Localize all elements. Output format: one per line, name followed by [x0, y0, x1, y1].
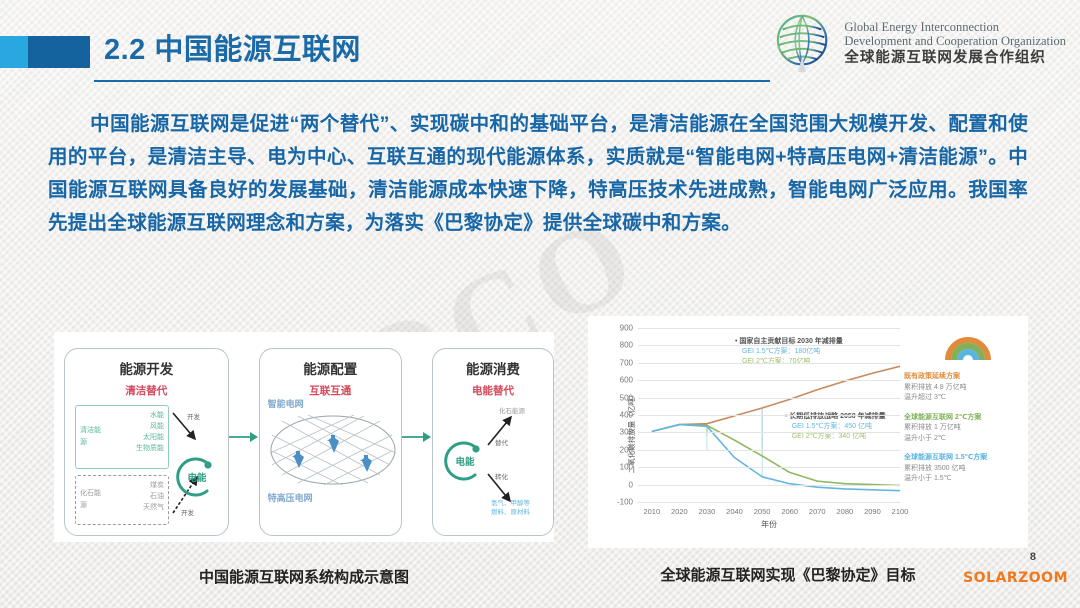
panel-energy-consumption: 能源消费 电能替代 电能 替代 化石能源 — [432, 348, 554, 536]
clean-energy-box: 清洁能源 水能 风能 太阳能 生物质能 — [75, 405, 169, 469]
replace-label: 替代 — [495, 437, 508, 447]
scenario1-title: 既有政策延续方案 — [904, 372, 1020, 383]
convert-label: 转化 — [495, 471, 508, 481]
chart-gridline — [638, 485, 900, 486]
electricity-label-2: 电能 — [441, 437, 489, 485]
hydrogen-target-label: 氢气、甲醇等 燃料、原材料 — [491, 499, 530, 517]
scenario2-line1: 累积排放 1 万亿吨 — [904, 423, 1020, 434]
chart-x-axis-label: 年份 — [761, 519, 777, 530]
chart-y-tick: 0 — [629, 480, 633, 489]
annotation1-line-green: GEI 2℃方案：70亿吨 — [742, 357, 843, 367]
scenario-donut-icon — [942, 320, 994, 364]
globe-icon — [773, 12, 835, 74]
organization-logo: Global Energy Interconnection Developmen… — [773, 12, 1066, 74]
flow-arrow-2 — [402, 431, 432, 443]
chart-x-tick: 2050 — [754, 507, 771, 516]
electricity-ring-1: 电能 — [173, 453, 221, 501]
annotation1-line-blue: GEI 1.5℃方案：180亿吨 — [742, 347, 843, 357]
scenario3-title: 全球能源互联网 1.5℃方案 — [904, 453, 1020, 464]
chart-x-tick: 2060 — [781, 507, 798, 516]
chart-y-tick: 300 — [620, 428, 633, 437]
grid-network-icon — [268, 413, 398, 487]
scenario-block-existing: 既有政策延续方案 累积排放 4.8 万亿吨 温升超过 3℃ — [904, 372, 1020, 404]
chart-y-tick: 700 — [620, 358, 633, 367]
panel3-title: 能源消费 — [433, 358, 553, 378]
logo-chinese: 全球能源互联网发展合作组织 — [844, 50, 1066, 66]
diagram-panels: 能源开发 清洁替代 清洁能源 水能 风能 太阳能 生物质能 化石能源 煤炭 石油… — [54, 332, 554, 542]
chart-gridline — [638, 328, 900, 329]
scenario2-line2: 温升小于 2℃ — [904, 434, 1020, 445]
flow-arrow-1 — [229, 431, 259, 443]
scenario-block-15c: 全球能源互联网 1.5℃方案 累积排放 3500 亿吨 温升小于 1.5℃ — [904, 453, 1020, 485]
right-chart: 二氧化碳排放量（亿吨） • 国家自主贡献目标 2030 年减排量 GEI 1.5… — [588, 316, 1028, 548]
clean-energy-label: 清洁能源 — [80, 425, 102, 449]
chart-gridline — [638, 502, 900, 503]
annotation1-title: 国家自主贡献目标 2030 年减排量 — [739, 338, 842, 345]
chart-gridline — [638, 363, 900, 364]
header-accent-blocks — [0, 36, 90, 68]
clean-energy-items: 水能 风能 太阳能 生物质能 — [136, 410, 164, 454]
develop-label-bottom: 开发 — [181, 507, 194, 517]
logo-english-line1: Global Energy Interconnection — [844, 20, 1066, 34]
arrow-right-icon — [229, 431, 259, 443]
panel-energy-allocation: 能源配置 互联互通 智能电网 特高压电网 — [259, 348, 402, 536]
page-title: 2.2 中国能源互联网 — [104, 26, 361, 68]
chart-y-tick: 600 — [620, 376, 633, 385]
chart-plot-area: • 国家自主贡献目标 2030 年减排量 GEI 1.5℃方案：180亿吨 GE… — [638, 328, 900, 502]
left-diagram: 能源开发 清洁替代 清洁能源 水能 风能 太阳能 生物质能 化石能源 煤炭 石油… — [54, 332, 554, 542]
panel2-subtitle: 互联互通 — [260, 383, 401, 398]
body-paragraph: 中国能源互联网是促进“两个替代”、实现碳中和的基础平台，是清洁能源在全国范围大规… — [48, 108, 1028, 240]
chart-y-tick: 100 — [620, 463, 633, 472]
chart-x-tick: 2070 — [809, 507, 826, 516]
scenario-block-2c: 全球能源互联网 2℃方案 累积排放 1 万亿吨 温升小于 2℃ — [904, 413, 1020, 445]
chart-x-tick: 2100 — [892, 507, 909, 516]
header-divider — [94, 80, 770, 82]
fossil-energy-items: 煤炭 石油 天然气 — [143, 480, 164, 513]
chart-x-tick: 2080 — [836, 507, 853, 516]
chart-gridline — [638, 432, 900, 433]
panel1-title: 能源开发 — [65, 358, 228, 378]
accent-block-dark — [28, 36, 90, 68]
chart-gridline — [638, 380, 900, 381]
accent-block-light — [0, 36, 28, 68]
scenario-legend: 既有政策延续方案 累积排放 4.8 万亿吨 温升超过 3℃ 全球能源互联网 2℃… — [904, 372, 1020, 494]
chart-annotation-2050: • 长期低排放战略 2050 年减排量 GEI 1.5℃方案：450 亿吨 GE… — [785, 412, 886, 442]
chart-x-tick: 2030 — [699, 507, 716, 516]
chart-y-tick: 900 — [620, 324, 633, 333]
chart-y-tick: 800 — [620, 341, 633, 350]
chart-y-tick: 400 — [620, 411, 633, 420]
annotation2-line-blue: GEI 1.5℃方案：450 亿吨 — [792, 422, 886, 432]
scenario2-title: 全球能源互联网 2℃方案 — [904, 413, 1020, 424]
chart-x-tick: 2090 — [864, 507, 881, 516]
arrow-right-icon — [402, 431, 432, 443]
paragraph-text: 中国能源互联网是促进“两个替代”、实现碳中和的基础平台，是清洁能源在全国范围大规… — [48, 113, 1028, 234]
annotation2-title: 长期低排放战略 2050 年减排量 — [789, 413, 885, 420]
fossil-energy-label: 化石能源 — [80, 488, 102, 512]
scenario1-line2: 温升超过 3℃ — [904, 393, 1020, 404]
chart-gridline — [638, 467, 900, 468]
panel3-subtitle: 电能替代 — [433, 383, 553, 398]
scenario3-line1: 累积排放 3500 亿吨 — [904, 464, 1020, 475]
page-number: 8 — [1030, 551, 1036, 563]
panel-energy-development: 能源开发 清洁替代 清洁能源 水能 风能 太阳能 生物质能 化石能源 煤炭 石油… — [64, 348, 229, 536]
chart-x-tick: 2020 — [671, 507, 688, 516]
electricity-ring-2: 电能 — [441, 437, 489, 485]
scenario3-line2: 温升小于 1.5℃ — [904, 474, 1020, 485]
fossil-energy-box: 化石能源 煤炭 石油 天然气 — [75, 475, 169, 525]
develop-label-top: 开发 — [187, 411, 200, 421]
chart-x-tick: 2010 — [643, 507, 660, 516]
chart-y-tick: 500 — [620, 393, 633, 402]
panel2-title: 能源配置 — [260, 358, 401, 378]
electricity-label-1: 电能 — [173, 453, 221, 501]
solarzoom-watermark: SOLARZOOM — [963, 570, 1068, 586]
logo-english-line2: Development and Cooperation Organization — [844, 34, 1066, 48]
chart-gridline — [638, 415, 900, 416]
right-figure-caption: 全球能源互联网实现《巴黎协定》目标 — [588, 564, 988, 585]
chart-y-tick: 200 — [620, 445, 633, 454]
left-figure-caption: 中国能源互联网系统构成示意图 — [54, 566, 554, 587]
annotation2-marker-row: • 长期低排放战略 2050 年减排量 — [785, 412, 886, 422]
chart-x-tick: 2040 — [726, 507, 743, 516]
fossil-target-label: 化石能源 — [499, 405, 525, 415]
smart-grid-label: 智能电网 — [268, 397, 304, 410]
panel1-subtitle: 清洁替代 — [65, 383, 228, 398]
chart-gridline — [638, 398, 900, 399]
chart-gridline — [638, 345, 900, 346]
uhv-grid-label: 特高压电网 — [268, 491, 313, 504]
scenario1-line1: 累积排放 4.8 万亿吨 — [904, 383, 1020, 394]
chart-y-tick: -100 — [617, 498, 633, 507]
chart-gridline — [638, 450, 900, 451]
